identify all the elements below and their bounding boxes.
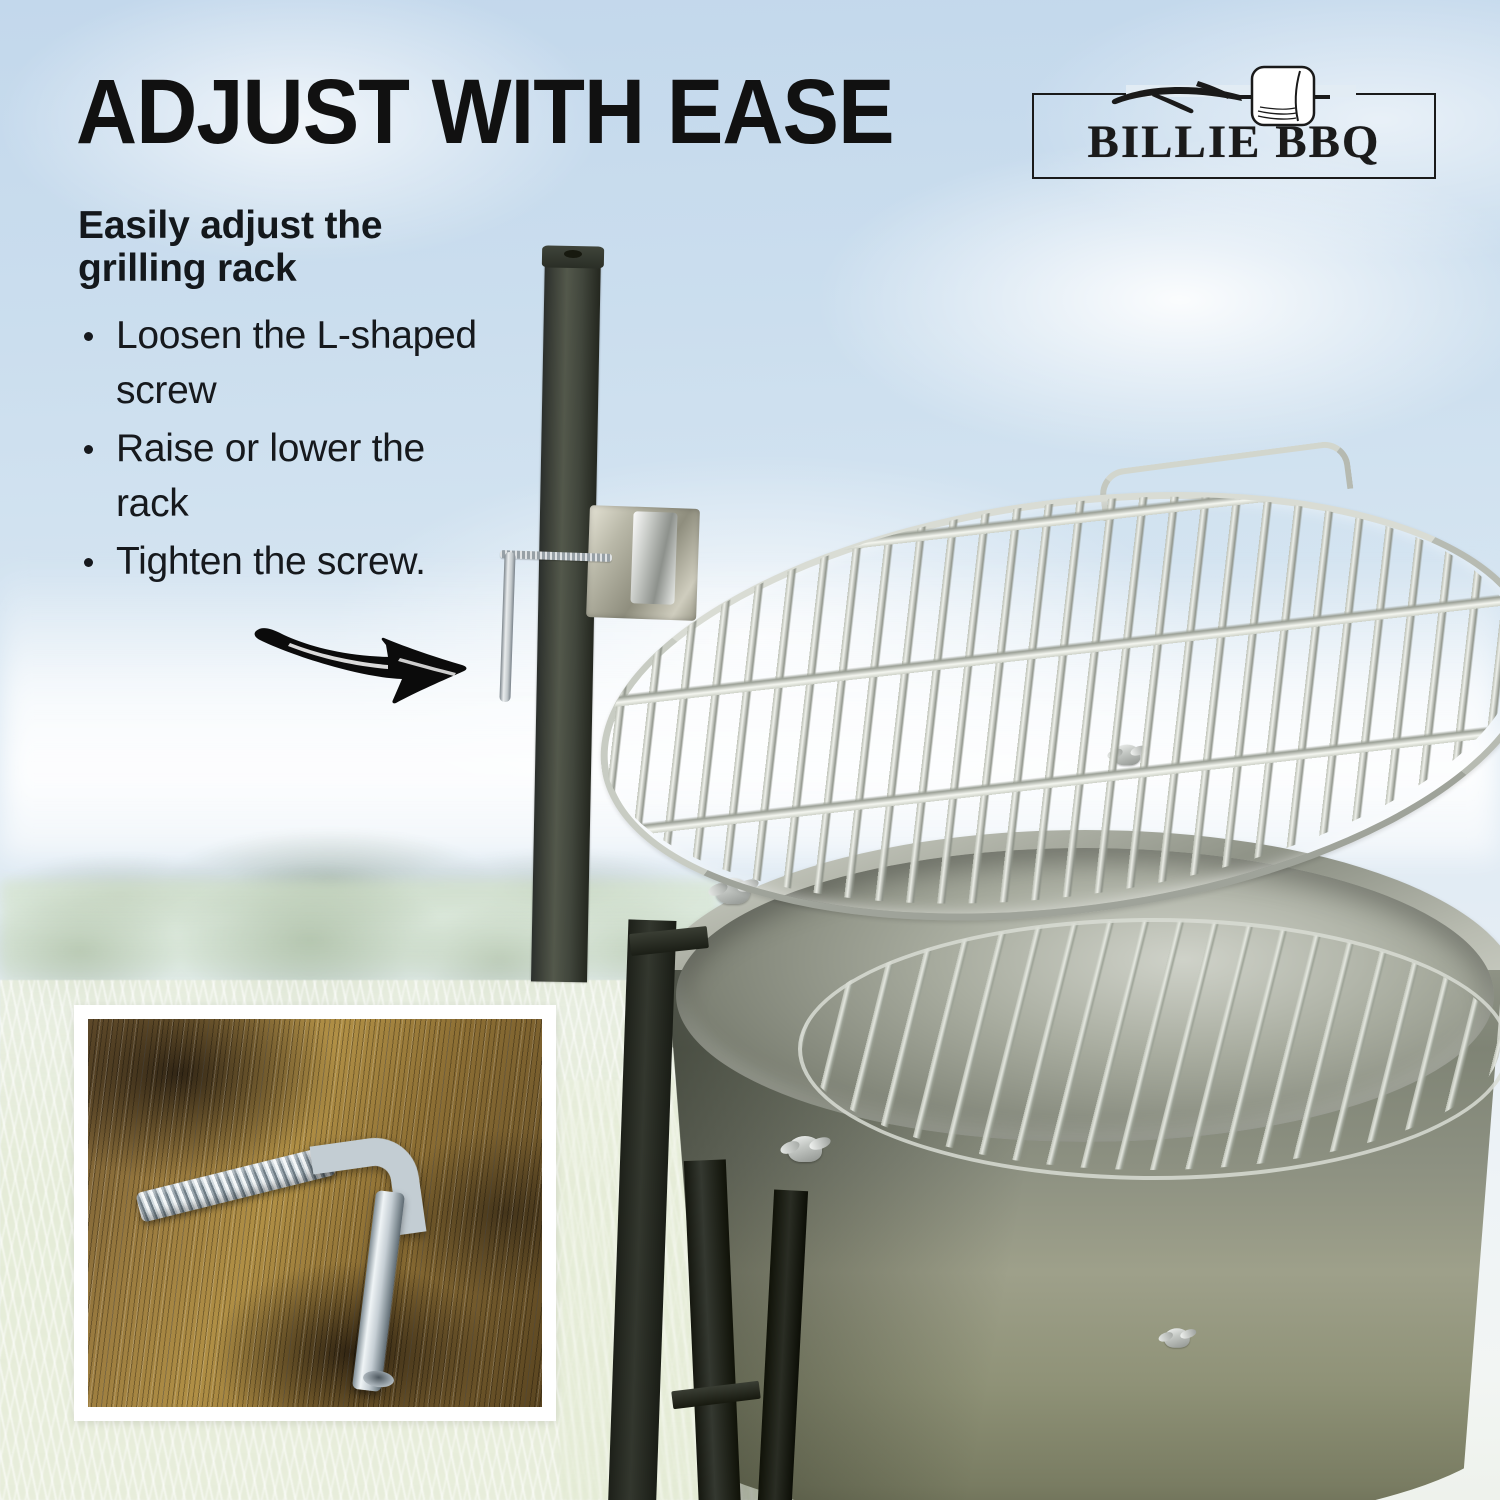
list-item-label: Tighten the screw. <box>116 540 426 583</box>
brand-name: BILLIE BBQ <box>1032 119 1436 166</box>
subheading: Easily adjust the grilling rack <box>78 205 478 291</box>
inset-photo-wood-background <box>88 1019 542 1407</box>
hand-drawn-arrow-right-icon <box>248 596 518 706</box>
bullet-dot <box>84 332 93 341</box>
list-item: Raise or lower the rack <box>78 421 498 532</box>
bracket-slot <box>630 511 677 604</box>
list-item: Loosen the L-shaped screw <box>78 308 498 419</box>
wing-nut <box>1164 1328 1190 1348</box>
product-photo-grill <box>500 230 1500 1500</box>
list-item: Tighten the screw. <box>78 534 498 589</box>
screw-elbow-bend <box>310 1132 427 1246</box>
list-item-label: Loosen the L-shaped screw <box>116 314 477 412</box>
infographic-canvas: ADJUST WITH EASE Easily adjust the grill… <box>0 0 1500 1500</box>
page-title: ADJUST WITH EASE <box>76 70 894 155</box>
screw-threaded-shaft <box>135 1145 336 1222</box>
brand-logo: BILLIE BBQ <box>1032 93 1436 179</box>
bullet-dot <box>84 558 93 567</box>
wing-nut <box>788 1136 822 1162</box>
instruction-list: Loosen the L-shaped screw Raise or lower… <box>78 308 498 591</box>
inset-photo-frame <box>74 1005 556 1421</box>
upper-grilling-rack <box>525 287 1500 1012</box>
bullet-dot <box>84 445 93 454</box>
list-item-label: Raise or lower the rack <box>116 427 425 525</box>
post-hole <box>564 250 582 258</box>
